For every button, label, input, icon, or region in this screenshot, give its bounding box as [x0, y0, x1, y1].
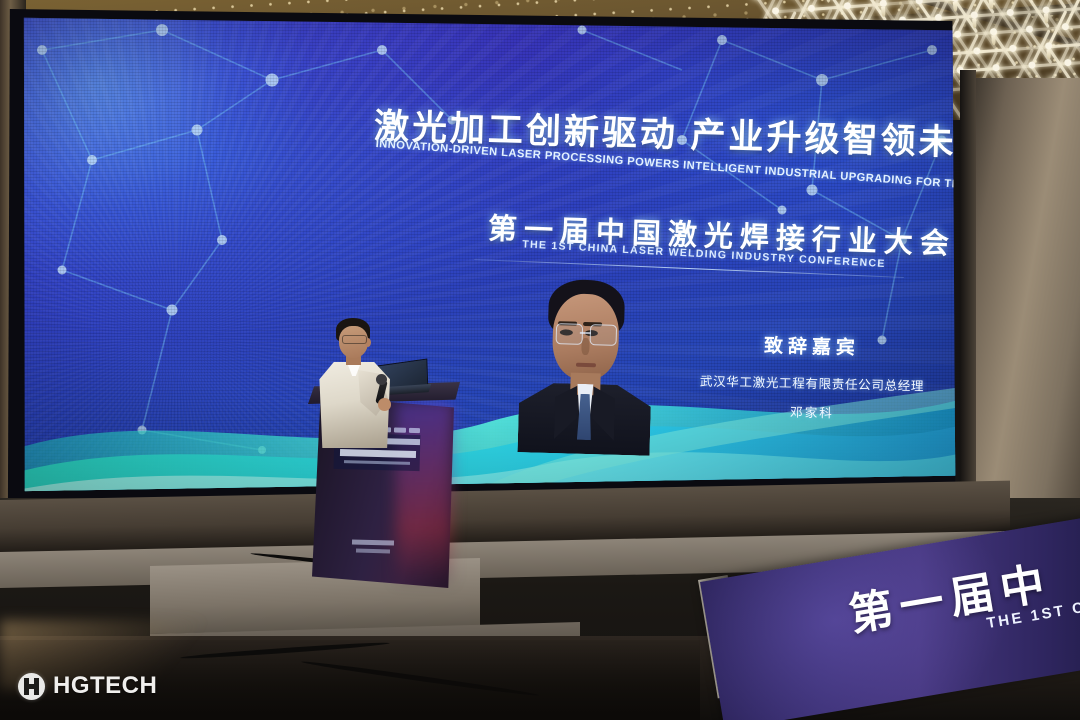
speaker-portrait-photo — [514, 276, 659, 452]
hgtech-logo-text: HGTECH — [53, 672, 157, 700]
podium-footer-line-2 — [356, 549, 390, 554]
microphone-head — [376, 374, 387, 385]
speaker-organization: 武汉华工激光工程有限责任公司总经理 — [662, 370, 962, 396]
presenter-person — [306, 318, 402, 448]
led-screen: 激光加工创新驱动 产业升级智领未来 INNOVATION-DRIVEN LASE… — [22, 10, 962, 498]
hgtech-logo-mark — [18, 673, 45, 700]
podium-footer-line-1 — [352, 539, 394, 545]
led-screen-frame: 激光加工创新驱动 产业升级智领未来 INNOVATION-DRIVEN LASE… — [6, 4, 962, 504]
conference-stage-photo: 激光加工创新驱动 产业升级智领未来 INNOVATION-DRIVEN LASE… — [0, 0, 1080, 720]
speaker-name: 邓家科 — [682, 399, 942, 424]
hgtech-logo: HGTECH — [18, 672, 157, 700]
speaker-role-label: 致辞嘉宾 — [682, 329, 943, 362]
screen-content: 激光加工创新驱动 产业升级智领未来 INNOVATION-DRIVEN LASE… — [22, 10, 962, 498]
